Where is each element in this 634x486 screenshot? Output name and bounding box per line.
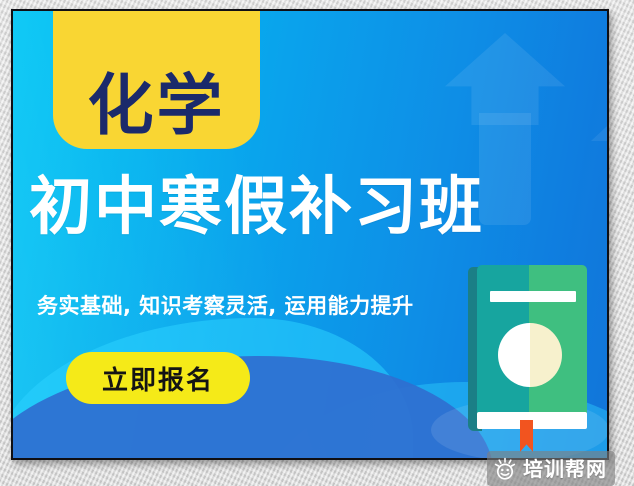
book-title-bar xyxy=(490,291,576,302)
watermark: 培训帮网 xyxy=(487,451,615,486)
book-illustration xyxy=(468,265,587,433)
enroll-now-button[interactable]: 立即报名 xyxy=(66,352,250,404)
watermark-label: 培训帮网 xyxy=(523,459,607,479)
banner-subtitle: 务实基础, 知识考察灵活, 运用能力提升 xyxy=(37,290,414,320)
subject-badge: 化学 xyxy=(53,9,260,149)
arrow-head xyxy=(591,99,609,169)
page-backdrop: 化学 初中寒假补习班 务实基础, 知识考察灵活, 运用能力提升 立即报名 xyxy=(0,0,634,486)
arrow-head xyxy=(445,33,565,125)
subject-badge-label: 化学 xyxy=(88,73,226,139)
course-promo-banner: 化学 初中寒假补习班 务实基础, 知识考察灵活, 运用能力提升 立即报名 xyxy=(11,9,609,460)
smiley-sun-face-icon xyxy=(493,457,517,481)
enroll-now-button-label: 立即报名 xyxy=(102,360,214,397)
banner-headline: 初中寒假补习班 xyxy=(29,175,601,239)
